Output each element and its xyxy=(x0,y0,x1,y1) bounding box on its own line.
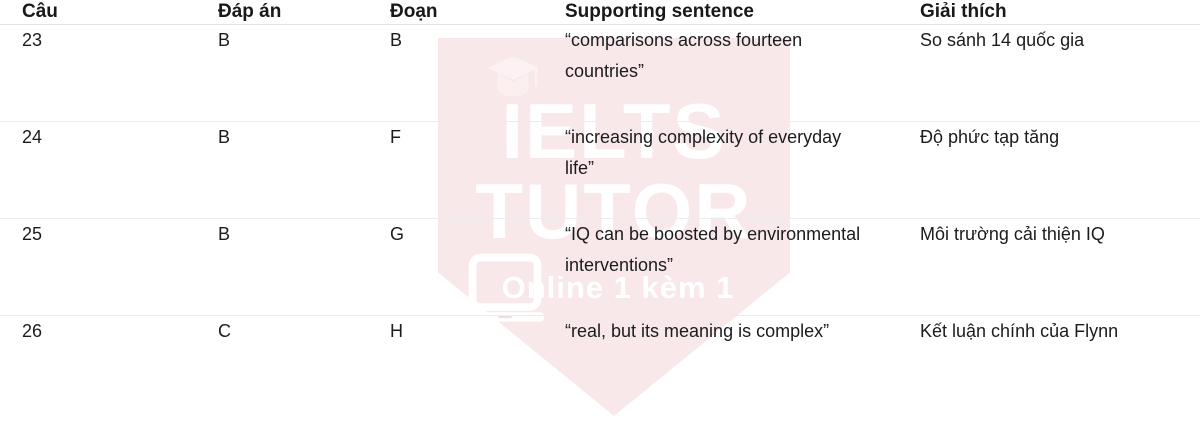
table-row: 25 B G “IQ can be boosted by environment… xyxy=(0,218,1200,315)
supporting-text: “increasing complexity of everyday life” xyxy=(565,122,865,184)
supporting-text: “real, but its meaning is complex” xyxy=(565,316,865,347)
giai-thich-text: Môi trường cải thiện IQ xyxy=(920,219,1190,250)
cell-dap-an: B xyxy=(218,24,390,121)
cell-giai-thich: Kết luận chính của Flynn xyxy=(920,315,1200,401)
table-row: 26 C H “real, but its meaning is complex… xyxy=(0,315,1200,401)
cell-giai-thich: Môi trường cải thiện IQ xyxy=(920,218,1200,315)
cell-dap-an: B xyxy=(218,218,390,315)
cell-supporting: “IQ can be boosted by environmental inte… xyxy=(565,218,920,315)
cell-giai-thich: Độ phức tạp tăng xyxy=(920,121,1200,218)
giai-thich-text: Độ phức tạp tăng xyxy=(920,122,1190,153)
cell-supporting: “increasing complexity of everyday life” xyxy=(565,121,920,218)
answer-table: Câu Đáp án Đoạn Supporting sentence Giải… xyxy=(0,0,1200,401)
column-header-dap-an: Đáp án xyxy=(218,0,390,24)
cell-cau: 24 xyxy=(0,121,218,218)
cell-doan: B xyxy=(390,24,565,121)
cell-doan: G xyxy=(390,218,565,315)
cell-doan: H xyxy=(390,315,565,401)
supporting-text: “IQ can be boosted by environmental inte… xyxy=(565,219,865,281)
table-header-row: Câu Đáp án Đoạn Supporting sentence Giải… xyxy=(0,0,1200,24)
giai-thich-text: Kết luận chính của Flynn xyxy=(920,316,1190,347)
cell-cau: 23 xyxy=(0,24,218,121)
cell-cau: 26 xyxy=(0,315,218,401)
page-root: IELTS TUTOR Online 1 kèm 1 Câu Đáp án xyxy=(0,0,1200,444)
giai-thich-text: So sánh 14 quốc gia xyxy=(920,25,1190,56)
cell-dap-an: C xyxy=(218,315,390,401)
column-header-supporting: Supporting sentence xyxy=(565,0,920,24)
supporting-text: “comparisons across fourteen countries” xyxy=(565,25,865,87)
cell-giai-thich: So sánh 14 quốc gia xyxy=(920,24,1200,121)
cell-cau: 25 xyxy=(0,218,218,315)
cell-supporting: “real, but its meaning is complex” xyxy=(565,315,920,401)
table-row: 23 B B “comparisons across fourteen coun… xyxy=(0,24,1200,121)
cell-doan: F xyxy=(390,121,565,218)
cell-supporting: “comparisons across fourteen countries” xyxy=(565,24,920,121)
column-header-doan: Đoạn xyxy=(390,0,565,24)
table-header: Câu Đáp án Đoạn Supporting sentence Giải… xyxy=(0,0,1200,24)
column-header-cau: Câu xyxy=(0,0,218,24)
cell-dap-an: B xyxy=(218,121,390,218)
answer-table-container: Câu Đáp án Đoạn Supporting sentence Giải… xyxy=(0,0,1200,444)
column-header-giai-thich: Giải thích xyxy=(920,0,1200,24)
table-row: 24 B F “increasing complexity of everyda… xyxy=(0,121,1200,218)
table-body: 23 B B “comparisons across fourteen coun… xyxy=(0,24,1200,401)
